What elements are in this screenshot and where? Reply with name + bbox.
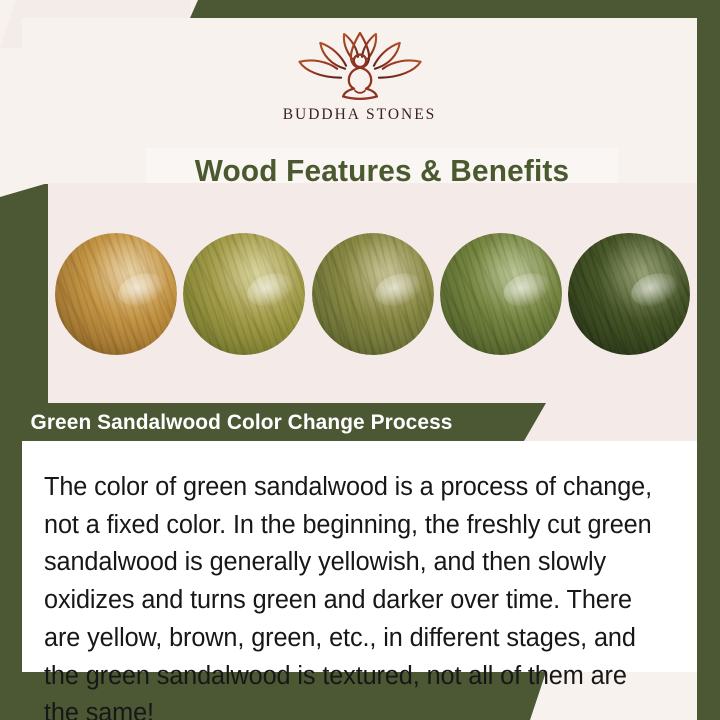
wood-bead-stage-4 bbox=[440, 233, 562, 355]
poster-canvas: BUDDHA STONES Wood Features & Benefits G… bbox=[0, 0, 720, 720]
frame-right-bar bbox=[697, 18, 720, 720]
lotus-meditating-buddha-icon bbox=[285, 30, 435, 102]
brand-logo: BUDDHA STONES bbox=[22, 30, 697, 124]
bead-showcase-panel bbox=[48, 183, 697, 403]
body-paragraph: The color of green sandalwood is a proce… bbox=[44, 469, 663, 720]
wood-bead-stage-1 bbox=[55, 233, 177, 355]
body-copy-panel: The color of green sandalwood is a proce… bbox=[22, 441, 697, 672]
frame-top-bar bbox=[190, 0, 720, 18]
section-banner: Green Sandalwood Color Change Process bbox=[0, 403, 546, 441]
wood-bead-stage-3 bbox=[312, 233, 434, 355]
section-banner-tail bbox=[520, 403, 697, 441]
wood-bead-stage-5 bbox=[568, 233, 690, 355]
section-title: Green Sandalwood Color Change Process bbox=[31, 410, 453, 435]
wood-bead-stage-2 bbox=[183, 233, 305, 355]
header: BUDDHA STONES Wood Features & Benefits bbox=[22, 18, 697, 184]
bead-row bbox=[48, 233, 697, 355]
brand-wordmark: BUDDHA STONES bbox=[283, 106, 437, 124]
